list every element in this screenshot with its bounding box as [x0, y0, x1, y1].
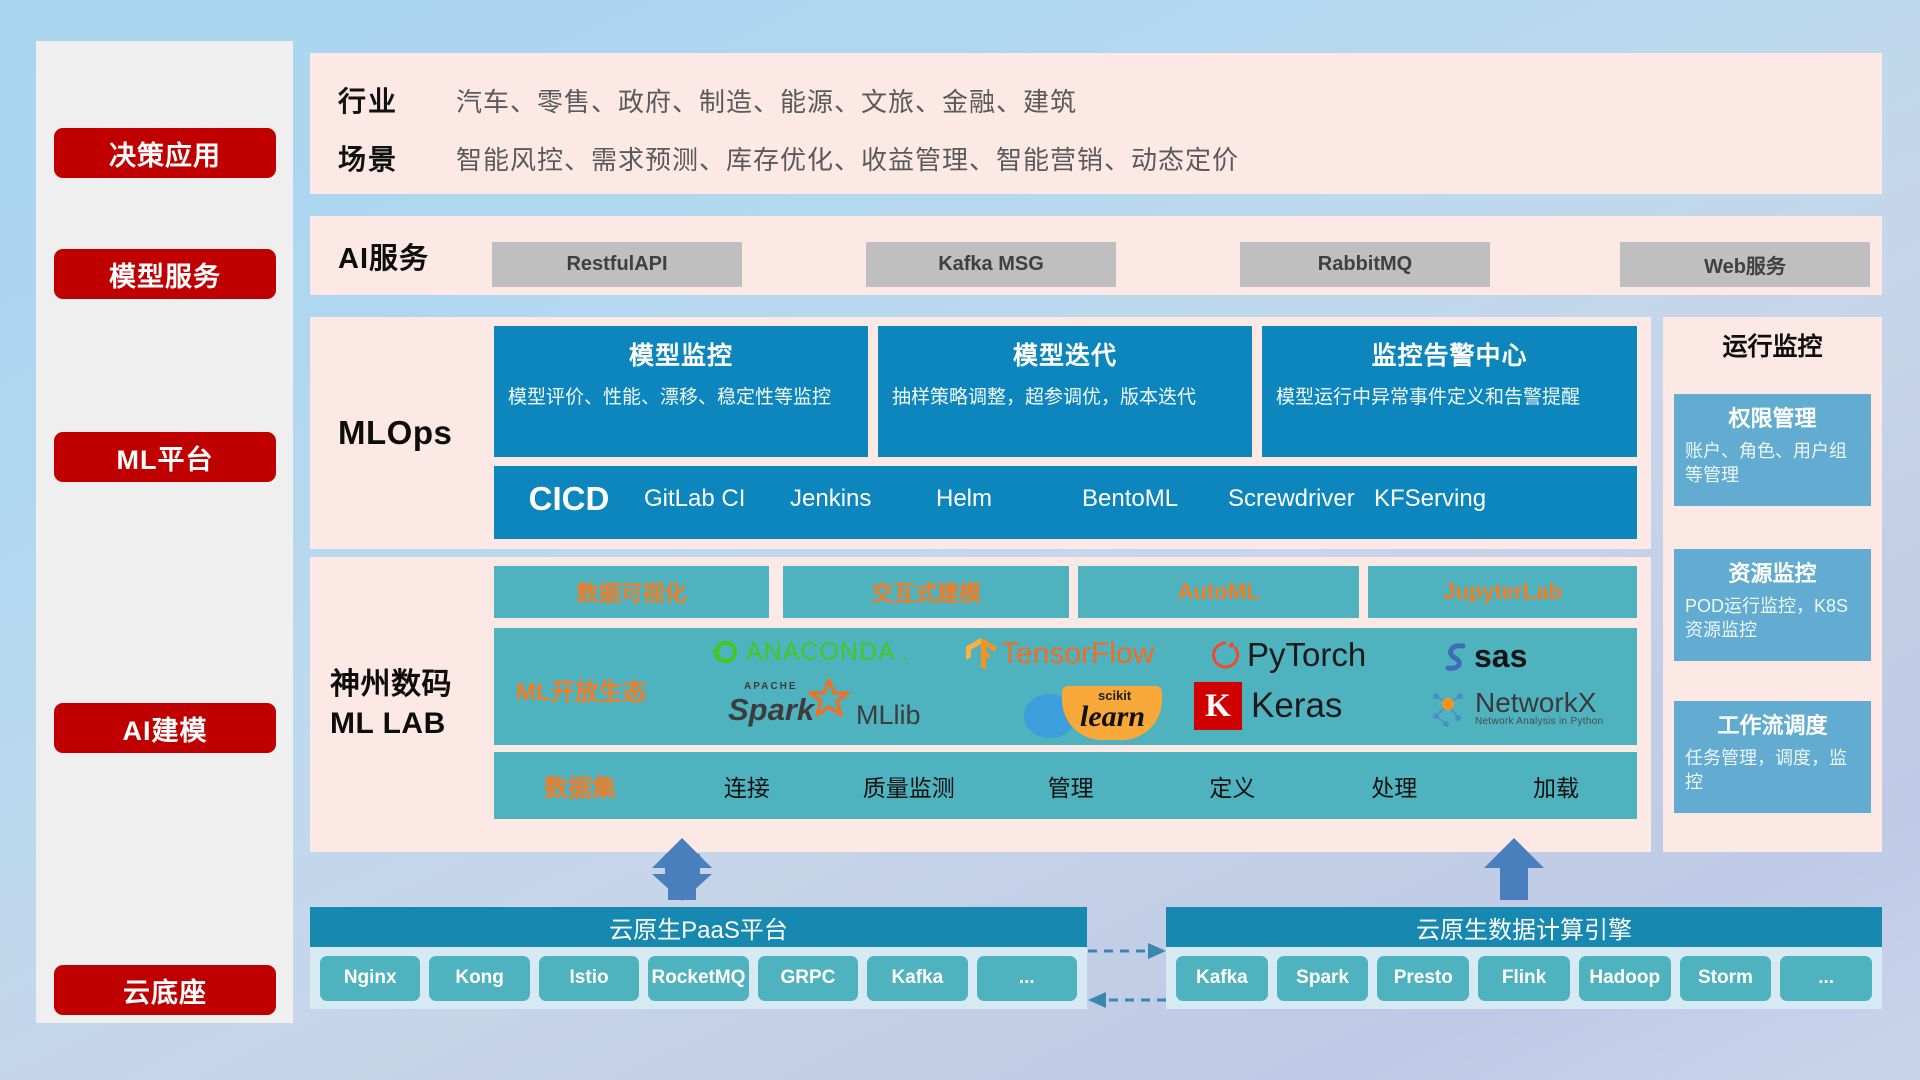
service-chip-label: Kafka MSG: [938, 253, 1044, 276]
networkx-wordmark: NetworkX: [1475, 689, 1603, 717]
service-chip-kafka-msg[interactable]: Kafka MSG: [866, 242, 1116, 287]
pytorch-icon: [1212, 638, 1240, 672]
service-chip-restfulapi[interactable]: RestfulAPI: [492, 242, 742, 287]
industry-label: 行业: [338, 80, 456, 120]
rail-item-model-service[interactable]: 模型服务: [54, 249, 276, 299]
engine-chip-storm[interactable]: Storm: [1680, 956, 1772, 1001]
keras-wordmark: Keras: [1251, 686, 1342, 726]
mlops-card-model-monitoring[interactable]: 模型监控 模型评价、性能、漂移、稳定性等监控: [494, 326, 868, 457]
engine-title: 云原生数据计算引擎: [1416, 910, 1632, 945]
sas-logo: sas: [1439, 638, 1527, 675]
spark-mark: APACHE Spark: [728, 684, 848, 734]
service-chip-label: RabbitMQ: [1318, 253, 1412, 276]
paas-chip-istio[interactable]: Istio: [539, 956, 639, 1001]
service-chip-label: RestfulAPI: [566, 253, 667, 276]
industry-row: 行业 汽车、零售、政府、制造、能源、文旅、金融、建筑: [338, 75, 1077, 125]
monitoring-card-desc: 账户、角色、用户组等管理: [1685, 440, 1860, 488]
dataset-item-define[interactable]: 定义: [1151, 769, 1313, 803]
scenario-row: 场景 智能风控、需求预测、库存优化、收益管理、智能营销、动态定价: [338, 133, 1239, 183]
engine-chip-flink[interactable]: Flink: [1478, 956, 1570, 1001]
lab-chip-label: AutoML: [1178, 579, 1260, 605]
mlops-card-title: 模型迭代: [892, 336, 1238, 372]
dashed-connector-left: [1088, 992, 1166, 1008]
learn-text: learn: [1080, 700, 1145, 734]
paas-chip-more[interactable]: ...: [977, 956, 1077, 1001]
mlops-label: MLOps: [338, 317, 452, 549]
pytorch-logo: PyTorch: [1212, 636, 1366, 674]
mlops-card-desc: 抽样策略调整，超参调优，版本迭代: [892, 385, 1238, 411]
lab-chip-jupyterlab[interactable]: JupyterLab: [1368, 566, 1637, 618]
mlops-card-model-iteration[interactable]: 模型迭代 抽样策略调整，超参调优，版本迭代: [878, 326, 1252, 457]
pytorch-wordmark: PyTorch: [1247, 636, 1366, 674]
dataset-item-manage[interactable]: 管理: [990, 769, 1152, 803]
cicd-item-kfserving[interactable]: KFServing: [1374, 466, 1520, 515]
paas-chip-nginx[interactable]: Nginx: [320, 956, 420, 1001]
sas-wordmark: sas: [1474, 638, 1527, 675]
ml-ecosystem-band: ML开放生态 ANACONDA . APACHE Spark MLlib Ten…: [494, 628, 1637, 745]
rail-item-cloud-base[interactable]: 云底座: [54, 965, 276, 1015]
decision-apps-panel: 行业 汽车、零售、政府、制造、能源、文旅、金融、建筑 场景 智能风控、需求预测、…: [310, 53, 1882, 194]
cicd-title: CICD: [494, 466, 644, 518]
mlops-card-alert-center[interactable]: 监控告警中心 模型运行中异常事件定义和告警提醒: [1262, 326, 1637, 457]
rail-item-label: 决策应用: [109, 134, 221, 173]
dataset-title: 数据集: [494, 768, 666, 803]
dashed-connector-right: [1088, 943, 1166, 959]
tensorflow-logo: TensorFlow: [964, 636, 1154, 672]
lab-chip-data-visualization[interactable]: 数据可视化: [494, 566, 769, 618]
service-chip-label: Web服务: [1704, 250, 1786, 279]
monitoring-card-desc: 任务管理，调度，监控: [1685, 747, 1860, 795]
keras-logo: K Keras: [1194, 682, 1342, 730]
cicd-item-jenkins[interactable]: Jenkins: [790, 466, 936, 515]
mlops-card-desc: 模型运行中异常事件定义和告警提醒: [1276, 385, 1623, 411]
networkx-tagline: Network Analysis in Python: [1475, 717, 1603, 727]
monitoring-card-permissions[interactable]: 权限管理 账户、角色、用户组等管理: [1674, 394, 1871, 506]
engine-chip-hadoop[interactable]: Hadoop: [1579, 956, 1671, 1001]
paas-header: 云原生PaaS平台: [310, 907, 1087, 947]
rail-item-label: AI建模: [123, 709, 208, 748]
rail-item-label: 云底座: [123, 971, 207, 1010]
rail-item-ml-platform[interactable]: ML平台: [54, 432, 276, 482]
mlops-card-title: 监控告警中心: [1276, 336, 1623, 372]
spark-wordmark: Spark: [728, 692, 814, 728]
service-chip-rabbitmq[interactable]: RabbitMQ: [1240, 242, 1490, 287]
industry-value: 汽车、零售、政府、制造、能源、文旅、金融、建筑: [456, 82, 1077, 119]
networkx-icon: [1426, 686, 1470, 730]
lab-chip-label: JupyterLab: [1443, 579, 1562, 605]
engine-tray: Kafka Spark Presto Flink Hadoop Storm ..…: [1166, 947, 1882, 1009]
lab-chip-label: 交互式建模: [871, 576, 981, 608]
scikit-learn-logo: scikit learn: [1024, 686, 1184, 740]
layer-rail: 决策应用 模型服务 ML平台 AI建模 云底座: [36, 41, 293, 1023]
paas-chip-kong[interactable]: Kong: [429, 956, 529, 1001]
monitoring-card-desc: POD运行监控，K8S资源监控: [1685, 595, 1860, 643]
scenario-value: 智能风控、需求预测、库存优化、收益管理、智能营销、动态定价: [456, 140, 1239, 177]
dataset-item-quality[interactable]: 质量监测: [828, 769, 990, 803]
rail-item-ai-modeling[interactable]: AI建模: [54, 703, 276, 753]
scenario-label: 场景: [338, 138, 456, 178]
monitoring-card-title: 工作流调度: [1685, 708, 1860, 740]
lab-chip-label: 数据可视化: [576, 576, 686, 608]
monitoring-title: 运行监控: [1663, 327, 1882, 363]
paas-chip-kafka[interactable]: Kafka: [867, 956, 967, 1001]
ml-lab-label: 神州数码 ML LAB: [330, 557, 490, 852]
networkx-logo: NetworkX Network Analysis in Python: [1426, 686, 1603, 730]
dataset-item-process[interactable]: 处理: [1313, 769, 1475, 803]
paas-chip-rocketmq[interactable]: RocketMQ: [648, 956, 748, 1001]
service-chip-web-service[interactable]: Web服务: [1620, 242, 1870, 287]
engine-chip-more[interactable]: ...: [1780, 956, 1872, 1001]
spark-mllib-logo: APACHE Spark MLlib: [728, 684, 921, 734]
monitoring-card-title: 资源监控: [1685, 556, 1860, 588]
ai-service-label: AI服务: [338, 216, 429, 295]
paas-title: 云原生PaaS平台: [609, 910, 788, 945]
engine-chip-presto[interactable]: Presto: [1377, 956, 1469, 1001]
rail-item-label: ML平台: [117, 438, 214, 477]
networkx-text-group: NetworkX Network Analysis in Python: [1475, 689, 1603, 727]
cicd-item-screwdriver[interactable]: Screwdriver: [1228, 466, 1374, 515]
tensorflow-icon: [964, 636, 998, 672]
anaconda-logo: ANACONDA .: [708, 636, 909, 668]
anaconda-wordmark: ANACONDA: [746, 638, 896, 667]
mlops-card-title: 模型监控: [508, 336, 854, 372]
keras-icon: K: [1194, 682, 1242, 730]
dataset-item-load[interactable]: 加载: [1475, 769, 1637, 803]
spark-apache-text: APACHE: [744, 681, 797, 692]
monitoring-card-title: 权限管理: [1685, 401, 1860, 433]
tensorflow-wordmark: TensorFlow: [1001, 637, 1154, 671]
rail-item-label: 模型服务: [109, 255, 221, 294]
engine-chip-kafka[interactable]: Kafka: [1176, 956, 1268, 1001]
cicd-item-helm[interactable]: Helm: [936, 466, 1082, 515]
monitoring-card-resources[interactable]: 资源监控 POD运行监控，K8S资源监控: [1674, 549, 1871, 661]
dataset-band: 数据集 连接 质量监测 管理 定义 处理 加载: [494, 752, 1637, 819]
mllib-wordmark: MLlib: [856, 700, 921, 734]
sas-icon: [1439, 640, 1473, 674]
mlops-card-desc: 模型评价、性能、漂移、稳定性等监控: [508, 385, 854, 411]
rail-item-decision-apps[interactable]: 决策应用: [54, 128, 276, 178]
engine-chip-spark[interactable]: Spark: [1277, 956, 1369, 1001]
anaconda-dot: .: [902, 638, 909, 667]
paas-tray: Nginx Kong Istio RocketMQ GRPC Kafka ...: [310, 947, 1087, 1009]
lab-chip-interactive-modeling[interactable]: 交互式建模: [783, 566, 1069, 618]
monitoring-card-workflow[interactable]: 工作流调度 任务管理，调度，监控: [1674, 701, 1871, 813]
paas-chip-grpc[interactable]: GRPC: [758, 956, 858, 1001]
cicd-item-bentoml[interactable]: BentoML: [1082, 466, 1228, 515]
engine-header: 云原生数据计算引擎: [1166, 907, 1882, 947]
ml-ecosystem-title: ML开放生态: [516, 672, 647, 707]
cicd-item-gitlab-ci[interactable]: GitLab CI: [644, 466, 790, 515]
cicd-bar: CICD GitLab CI Jenkins Helm BentoML Scre…: [494, 466, 1637, 539]
lab-chip-automl[interactable]: AutoML: [1078, 566, 1359, 618]
dataset-item-connect[interactable]: 连接: [666, 769, 828, 803]
anaconda-icon: [708, 636, 740, 668]
